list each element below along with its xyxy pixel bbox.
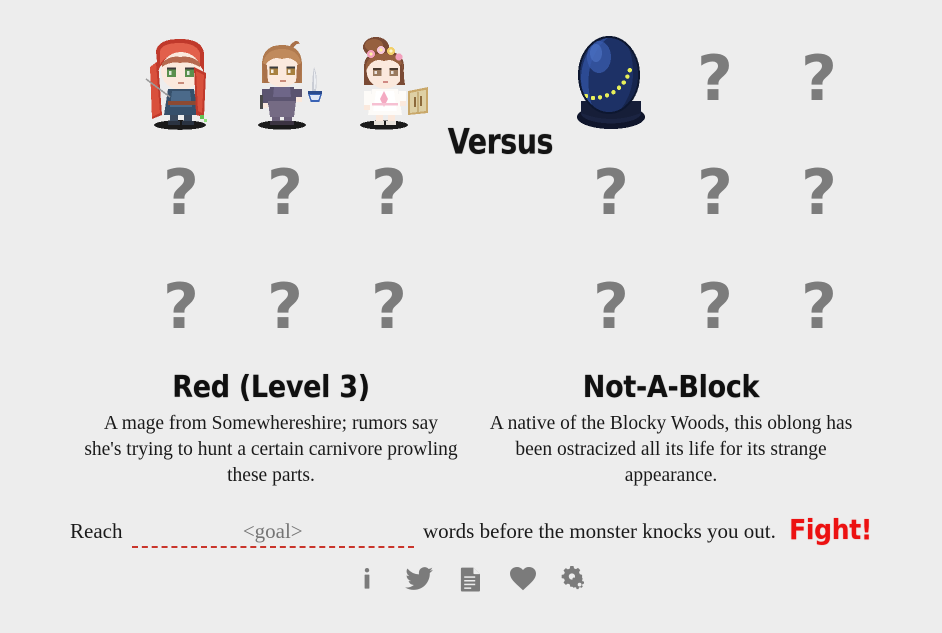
- monster-slot-3[interactable]: ?: [767, 22, 871, 136]
- monster-slot-6[interactable]: ?: [767, 136, 871, 250]
- goal-prefix-label: Reach: [70, 519, 122, 543]
- empty-slot-placeholder: ?: [801, 162, 837, 224]
- monster-slot-4[interactable]: ?: [559, 136, 663, 250]
- twitter-icon[interactable]: [404, 564, 434, 594]
- empty-slot-placeholder: ?: [163, 162, 199, 224]
- empty-slot-placeholder: ?: [593, 162, 629, 224]
- footer-icon-bar: [0, 564, 942, 594]
- player-slot-3[interactable]: [337, 22, 441, 136]
- info-icon[interactable]: [352, 564, 382, 594]
- empty-slot-placeholder: ?: [697, 276, 733, 338]
- empty-slot-placeholder: ?: [801, 276, 837, 338]
- player-slot-5[interactable]: ?: [233, 136, 337, 250]
- monster-slot-1[interactable]: [559, 22, 663, 136]
- monster-party-grid: ? ? ? ? ? ? ? ?: [559, 22, 871, 364]
- monster-name: Not-A-Block: [483, 370, 859, 405]
- empty-slot-placeholder: ?: [267, 276, 303, 338]
- empty-slot-placeholder: ?: [593, 276, 629, 338]
- gears-icon[interactable]: [560, 564, 590, 594]
- empty-slot-placeholder: ?: [371, 276, 407, 338]
- player-party-grid: ? ? ? ? ? ?: [129, 22, 441, 364]
- red-riding-hood-mage-sprite: [133, 27, 229, 131]
- flower-bun-scholar-sprite: [341, 27, 437, 131]
- player-info: Red (Level 3) A mage from Somewhereshire…: [71, 372, 471, 489]
- versus-column: Versus: [441, 22, 559, 390]
- player-slot-9[interactable]: ?: [337, 250, 441, 364]
- player-name: Red (Level 3): [83, 370, 459, 405]
- player-description: A mage from Somewhereshire; rumors say s…: [83, 411, 459, 489]
- monster-slot-7[interactable]: ?: [559, 250, 663, 364]
- player-slot-4[interactable]: ?: [129, 136, 233, 250]
- heart-icon[interactable]: [508, 564, 538, 594]
- monster-slot-2[interactable]: ?: [663, 22, 767, 136]
- empty-slot-placeholder: ?: [267, 162, 303, 224]
- goal-input[interactable]: [132, 519, 414, 548]
- player-slot-8[interactable]: ?: [233, 250, 337, 364]
- goal-line: Reach words before the monster knocks yo…: [0, 515, 942, 548]
- battle-area: ? ? ? ? ? ? Versus: [0, 0, 942, 368]
- empty-slot-placeholder: ?: [371, 162, 407, 224]
- fight-button[interactable]: Fight!: [781, 513, 872, 545]
- player-slot-1[interactable]: [129, 22, 233, 136]
- player-slot-6[interactable]: ?: [337, 136, 441, 250]
- monster-info: Not-A-Block A native of the Blocky Woods…: [471, 372, 871, 489]
- empty-slot-placeholder: ?: [801, 48, 837, 110]
- monster-slot-5[interactable]: ?: [663, 136, 767, 250]
- not-a-block-monster-sprite: [563, 27, 659, 131]
- versus-label: Versus: [447, 122, 552, 162]
- monster-slot-8[interactable]: ?: [663, 250, 767, 364]
- goal-suffix-label: words before the monster knocks you out.: [423, 519, 776, 543]
- battle-screen: ? ? ? ? ? ? Versus: [0, 0, 942, 633]
- empty-slot-placeholder: ?: [697, 162, 733, 224]
- empty-slot-placeholder: ?: [163, 276, 199, 338]
- player-slot-7[interactable]: ?: [129, 250, 233, 364]
- monster-slot-9[interactable]: ?: [767, 250, 871, 364]
- brown-hair-scribe-sprite: [237, 27, 333, 131]
- monster-description: A native of the Blocky Woods, this oblon…: [483, 411, 859, 489]
- document-icon[interactable]: [456, 564, 486, 594]
- empty-slot-placeholder: ?: [697, 48, 733, 110]
- player-slot-2[interactable]: [233, 22, 337, 136]
